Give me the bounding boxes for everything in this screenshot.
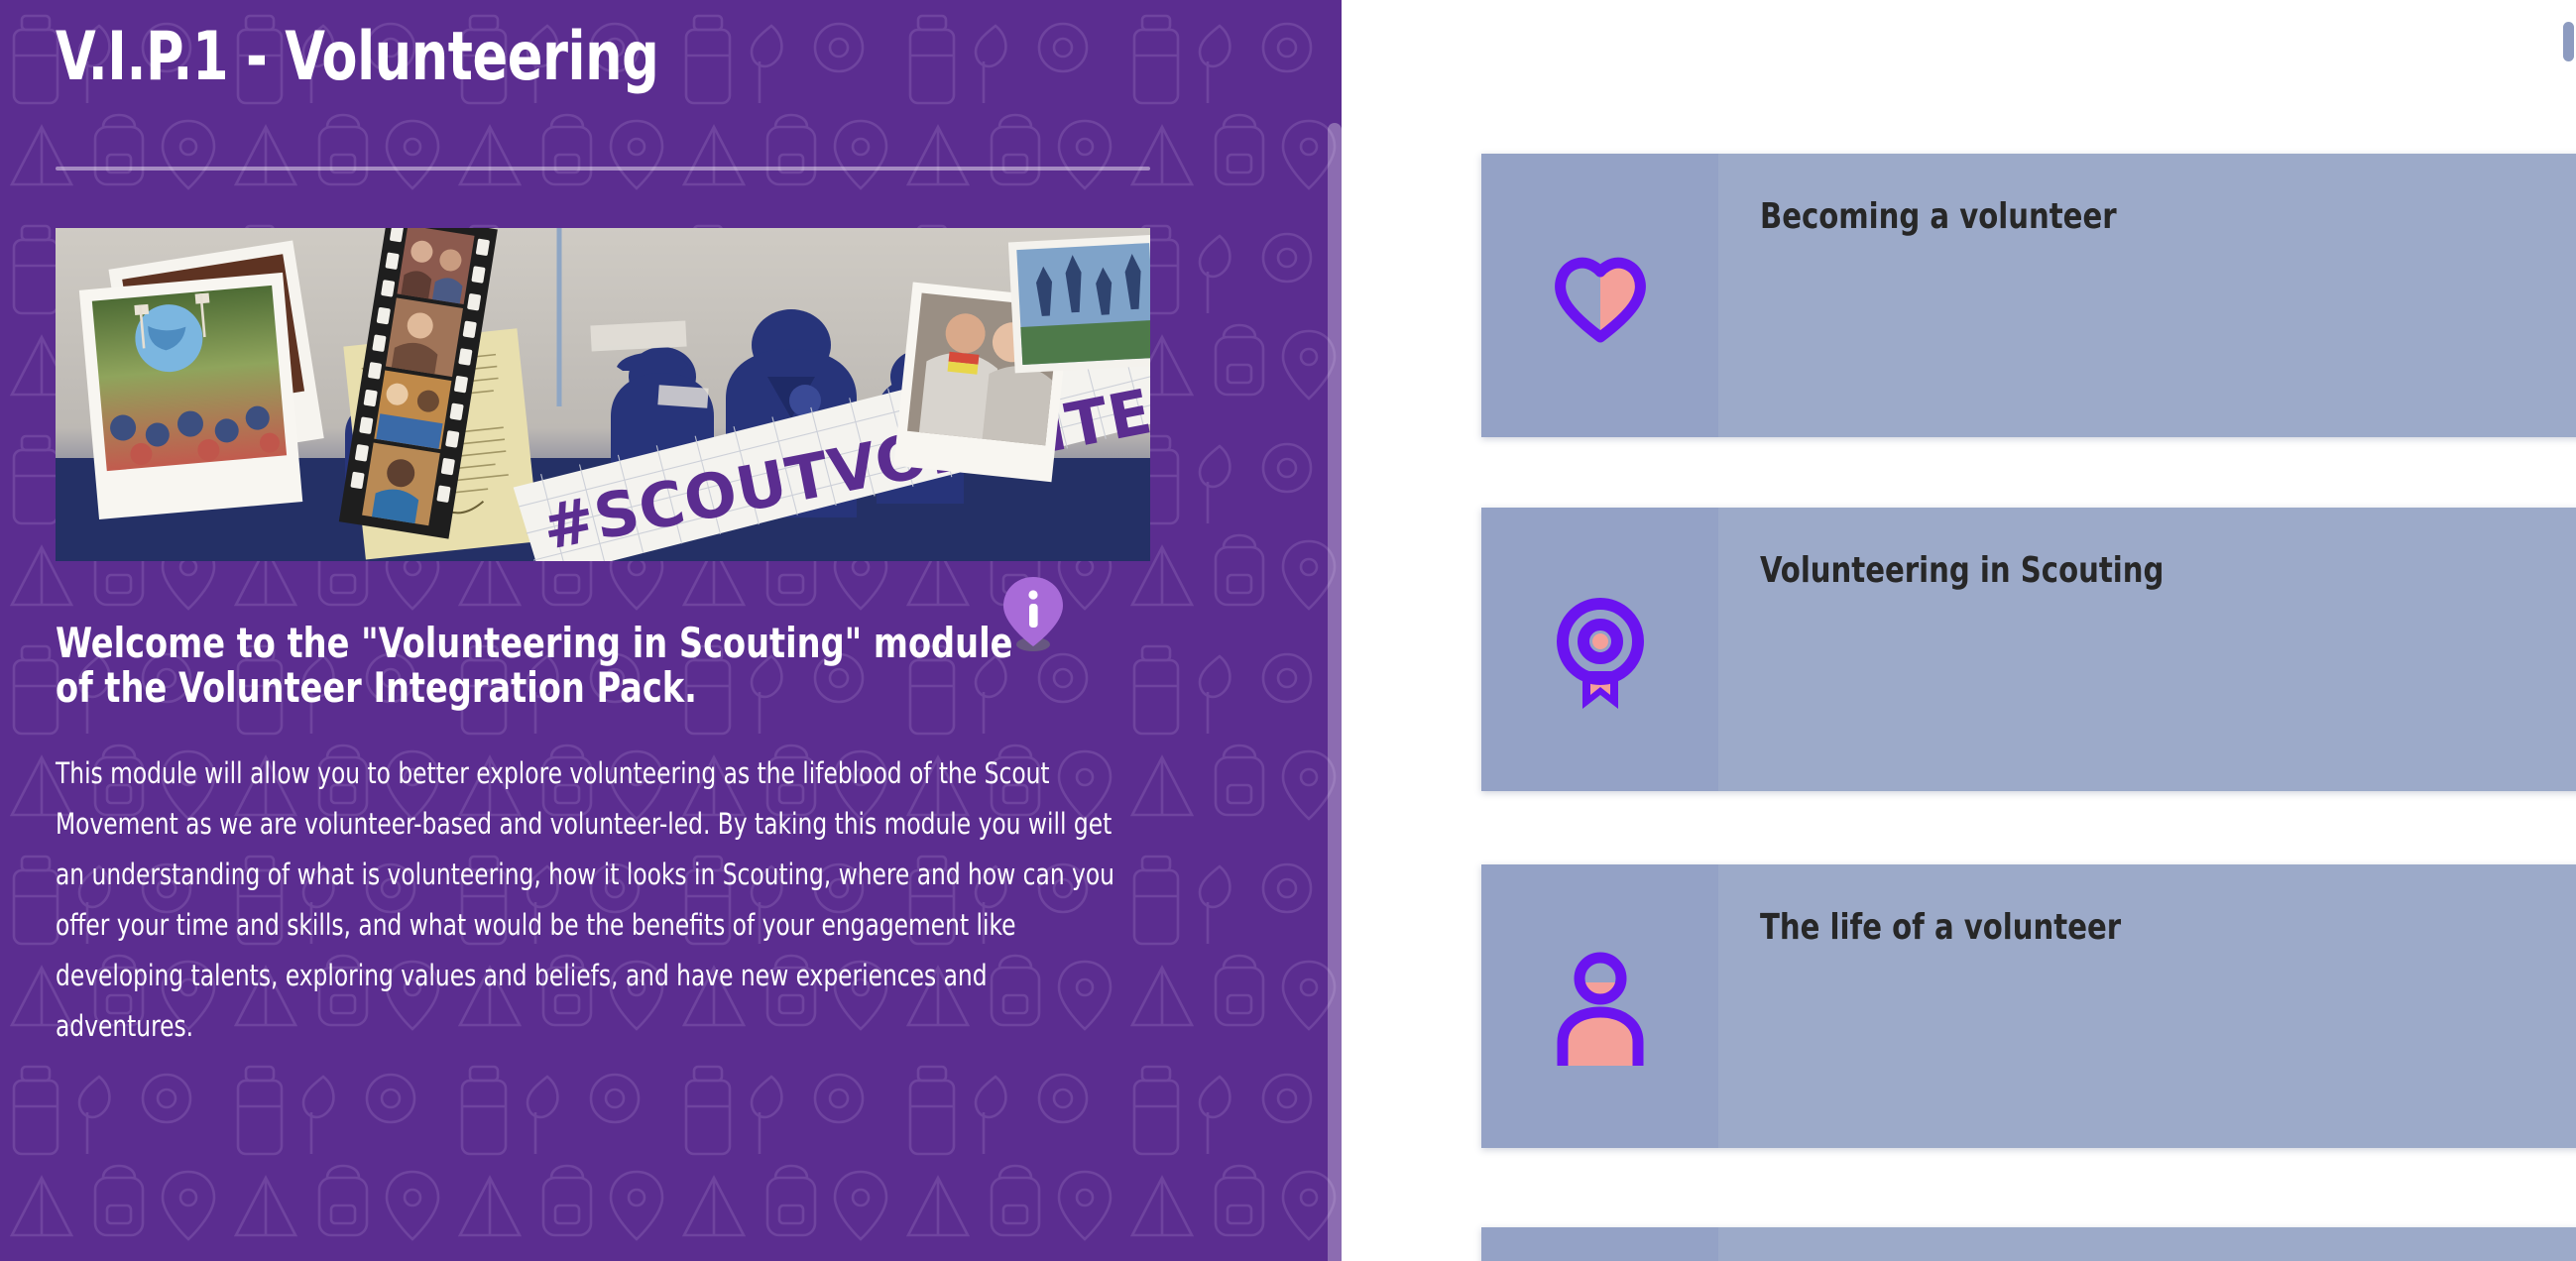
card-next-partial[interactable] — [1481, 1227, 2576, 1261]
person-icon — [1539, 945, 1662, 1068]
card-becoming-a-volunteer[interactable]: Becoming a volunteer — [1481, 154, 2576, 437]
card-title: Becoming a volunteer — [1760, 197, 2576, 237]
right-panel-scrollbar[interactable] — [2563, 22, 2574, 61]
card-title: Volunteering in Scouting — [1760, 551, 2576, 591]
card-body: Volunteering in Scouting — [1718, 508, 2576, 791]
left-intro-panel: V.I.P.1 - Volunteering — [0, 0, 1342, 1261]
module-page: V.I.P.1 - Volunteering — [0, 0, 2576, 1261]
card-body: The life of a volunteer — [1718, 864, 2576, 1148]
card-volunteering-in-scouting[interactable]: Volunteering in Scouting — [1481, 508, 2576, 791]
page-title: V.I.P.1 - Volunteering — [56, 0, 1113, 91]
welcome-heading: Welcome to the "Volunteering in Scouting… — [56, 621, 1044, 711]
medal-icon — [1539, 588, 1662, 711]
hero-collage: #SCOUTVOLUNTEER — [56, 228, 1150, 561]
info-pin-button[interactable] — [1001, 575, 1065, 652]
left-panel-content: V.I.P.1 - Volunteering — [0, 0, 1342, 1052]
hero-collage-image: #SCOUTVOLUNTEER — [56, 228, 1150, 561]
card-icon-column — [1481, 1227, 1718, 1261]
intro-paragraph: This module will allow you to better exp… — [56, 748, 1128, 1052]
card-body: Becoming a volunteer — [1718, 154, 2576, 437]
card-icon-column — [1481, 508, 1718, 791]
title-divider — [56, 167, 1150, 171]
card-icon-column — [1481, 864, 1718, 1148]
left-panel-scrollbar[interactable] — [1328, 123, 1342, 1261]
card-body — [1718, 1227, 2576, 1261]
card-title: The life of a volunteer — [1760, 908, 2576, 948]
right-cards-panel: Becoming a volunteer Volunteering in Sco… — [1342, 0, 2576, 1261]
heart-icon — [1539, 234, 1662, 357]
card-icon-column — [1481, 154, 1718, 437]
card-the-life-of-a-volunteer[interactable]: The life of a volunteer — [1481, 864, 2576, 1148]
